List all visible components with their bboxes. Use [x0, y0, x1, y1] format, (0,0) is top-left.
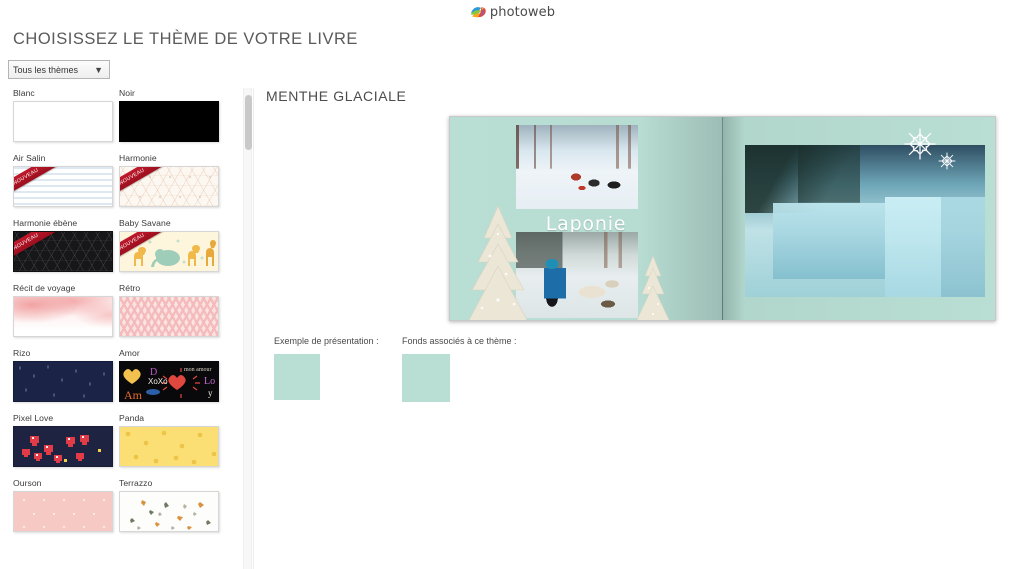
snowflake-large-icon	[903, 127, 937, 166]
theme-filter-select[interactable]: Tous les thèmes ▼	[8, 60, 110, 79]
theme-item[interactable]: Noir	[119, 88, 219, 142]
theme-item-swatch[interactable]: NOUVEAU	[13, 166, 113, 207]
selected-theme-title: MENTHE GLACIALE	[266, 88, 406, 104]
photoweb-bird-logo-icon	[469, 4, 488, 21]
svg-text:mon amour: mon amour	[184, 367, 212, 373]
theme-item-label: Harmonie ébène	[13, 218, 113, 228]
svg-text:Am: Am	[124, 388, 143, 402]
snowflake-small-icon	[937, 151, 957, 176]
theme-item-swatch[interactable]	[13, 491, 113, 532]
child-with-dog-photo	[516, 232, 638, 318]
theme-item-swatch[interactable]	[119, 101, 219, 142]
page-title: CHOISISSEZ LE THÈME DE VOTRE LIVRE	[13, 30, 358, 49]
theme-item[interactable]: Harmonie ébèneNOUVEAU	[13, 218, 113, 272]
theme-item-label: Baby Savane	[119, 218, 219, 228]
new-ribbon-badge: NOUVEAU	[13, 231, 58, 264]
themes-list-panel[interactable]: BlancNoirAir SalinNOUVEAUHarmonieNOUVEAU…	[0, 88, 236, 569]
theme-item-label: Noir	[119, 88, 219, 98]
brand-bar: photoweb	[0, 0, 1024, 24]
theme-item-swatch[interactable]: NOUVEAU	[13, 231, 113, 272]
theme-item-label: Pixel Love	[13, 413, 113, 423]
theme-item-label: Rizo	[13, 348, 113, 358]
theme-item[interactable]: Baby SavaneNOUVEAU	[119, 218, 219, 272]
brand-name: photoweb	[490, 5, 555, 20]
panel-divider	[253, 88, 254, 569]
theme-item-label: Terrazzo	[119, 478, 219, 488]
theme-item[interactable]: Rizo	[13, 348, 113, 402]
theme-item[interactable]: Air SalinNOUVEAU	[13, 153, 113, 207]
theme-item-swatch[interactable]: NOUVEAU	[119, 231, 219, 272]
theme-item-label: Panda	[119, 413, 219, 423]
example-presentation-block: Exemple de présentation :	[274, 336, 379, 400]
theme-item-label: Air Salin	[13, 153, 113, 163]
theme-item-label: Rétro	[119, 283, 219, 293]
sled-dogs-photo	[516, 125, 638, 209]
svg-text:y: y	[208, 388, 213, 398]
theme-chooser-page: photoweb CHOISISSEZ LE THÈME DE VOTRE LI…	[0, 0, 1024, 569]
theme-item[interactable]: Rétro	[119, 283, 219, 337]
theme-item[interactable]: AmorXoXoAmDLoymon amour	[119, 348, 219, 402]
theme-item[interactable]: Blanc	[13, 88, 113, 142]
theme-item[interactable]: Pixel Love	[13, 413, 113, 467]
theme-item[interactable]: Ourson	[13, 478, 113, 532]
new-ribbon-badge: NOUVEAU	[13, 166, 58, 199]
theme-item-swatch[interactable]	[13, 426, 113, 467]
associated-backgrounds-label: Fonds associés à ce thème :	[402, 336, 517, 346]
example-presentation-swatch[interactable]	[274, 354, 320, 400]
theme-item-swatch[interactable]	[119, 296, 219, 337]
theme-item-swatch[interactable]	[13, 101, 113, 142]
associated-background-swatch[interactable]	[402, 354, 450, 402]
theme-item-label: Ourson	[13, 478, 113, 488]
svg-text:XoXo: XoXo	[148, 377, 168, 386]
book-preview[interactable]: Laponie	[449, 116, 996, 321]
svg-text:Lo: Lo	[204, 376, 215, 387]
themes-scrollbar-thumb[interactable]	[245, 95, 252, 150]
book-page-right	[723, 117, 996, 320]
theme-item-label: Blanc	[13, 88, 113, 98]
pixel-hearts-icon	[14, 427, 113, 467]
amor-hearts-icon: XoXoAmDLoymon amour	[120, 362, 219, 402]
theme-item-swatch[interactable]	[119, 426, 219, 467]
svg-text:D: D	[150, 367, 157, 378]
theme-item[interactable]: Récit de voyage	[13, 283, 113, 337]
theme-item-swatch[interactable]: XoXoAmDLoymon amour	[119, 361, 219, 402]
terrazzo-flecks-icon	[120, 492, 219, 532]
associated-backgrounds-block: Fonds associés à ce thème :	[402, 336, 517, 402]
theme-item-swatch[interactable]	[13, 296, 113, 337]
theme-item-label: Harmonie	[119, 153, 219, 163]
themes-grid: BlancNoirAir SalinNOUVEAUHarmonieNOUVEAU…	[0, 88, 236, 532]
theme-item[interactable]: HarmonieNOUVEAU	[119, 153, 219, 207]
theme-item-swatch[interactable]	[119, 491, 219, 532]
theme-item[interactable]: Panda	[119, 413, 219, 467]
chevron-down-icon: ▼	[94, 65, 105, 75]
theme-item-swatch[interactable]: NOUVEAU	[119, 166, 219, 207]
themes-scrollbar[interactable]	[243, 88, 252, 569]
theme-item-label: Récit de voyage	[13, 283, 113, 293]
photoweb-logo[interactable]: photoweb	[469, 4, 555, 21]
book-page-left: Laponie	[450, 117, 722, 320]
theme-item[interactable]: Terrazzo	[119, 478, 219, 532]
snowy-fir-tree-large-icon	[468, 204, 528, 320]
theme-filter-value: Tous les thèmes	[13, 65, 94, 75]
snowy-fir-tree-small-icon	[636, 254, 670, 320]
new-ribbon-badge: NOUVEAU	[119, 166, 164, 199]
theme-item-label: Amor	[119, 348, 219, 358]
theme-item-swatch[interactable]	[13, 361, 113, 402]
example-presentation-label: Exemple de présentation :	[274, 336, 379, 346]
